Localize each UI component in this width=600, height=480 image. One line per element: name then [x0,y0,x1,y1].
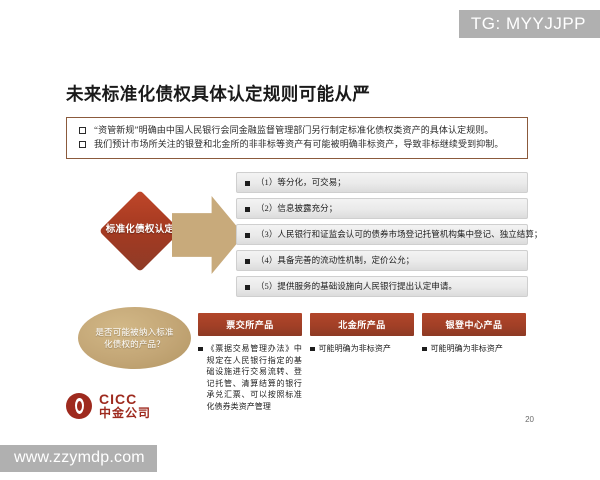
slide-canvas: TG: MYYJJPP 未来标准化债权具体认定规则可能从严 “资管新规”明确由中… [0,0,600,480]
square-bullet-icon [198,347,203,352]
cicc-logo-chinese: 中金公司 [99,407,151,420]
product-column-bill-exchange: 票交所产品 《票据交易管理办法》中规定在人民银行指定的基础设施进行交易流转、登记… [198,313,302,412]
square-bullet-icon [310,347,315,352]
column-body: 可能明确为非标资产 [310,343,414,355]
product-column-yindeng-center: 银登中心产品 可能明确为非标资产 [422,313,526,412]
column-body: 可能明确为非标资产 [422,343,526,355]
square-bullet-icon [245,207,250,212]
cicc-logo: CICC 中金公司 [66,392,151,419]
square-bullet-icon [245,233,250,238]
square-bullet-icon [245,259,250,264]
square-bullet-icon [79,141,86,148]
summary-bullet-text: 我们预计市场所关注的银登和北金所的非非标等资产有可能被明确非标资产，导致非标继续… [94,138,504,150]
criteria-list-item: （2）信息披露充分； [236,198,528,219]
column-body: 《票据交易管理办法》中规定在人民银行指定的基础设施进行交易流转、登记托管、清算结… [198,343,302,412]
cicc-logo-latin: CICC [99,392,151,407]
summary-bullet-text: “资管新规”明确由中国人民银行会同金融监督管理部门另行制定标准化债权类资产的具体… [94,124,494,136]
square-bullet-icon [245,181,250,186]
summary-bullet-box: “资管新规”明确由中国人民银行会同金融监督管理部门另行制定标准化债权类资产的具体… [66,117,528,159]
url-watermark: www.zzymdp.com [0,445,157,472]
column-header: 银登中心产品 [422,313,526,336]
criteria-list-item: （3）人民银行和证监会认可的债券市场登记托管机构集中登记、独立结算； [236,224,528,245]
column-body-text: 可能明确为非标资产 [431,343,503,355]
column-header: 北金所产品 [310,313,414,336]
page-number: 20 [525,415,534,424]
product-column-beijing-financial-assets-exchange: 北金所产品 可能明确为非标资产 [310,313,414,412]
square-bullet-icon [245,285,250,290]
square-bullet-icon [79,127,86,134]
criteria-list-item: （5）提供服务的基础设施向人民银行提出认定申请。 [236,276,528,297]
criteria-text: （1）等分化，可交易； [256,177,346,188]
column-body-text: 《票据交易管理办法》中规定在人民银行指定的基础设施进行交易流转、登记托管、清算结… [207,343,303,412]
criteria-list-item: （1）等分化，可交易； [236,172,528,193]
cicc-logo-text: CICC 中金公司 [99,392,151,419]
column-body-text: 可能明确为非标资产 [319,343,391,355]
criteria-text: （2）信息披露充分； [256,203,337,214]
square-bullet-icon [422,347,427,352]
criteria-list-item: （4）具备完善的流动性机制，定价公允； [236,250,528,271]
criteria-list: （1）等分化，可交易； （2）信息披露充分； （3）人民银行和证监会认可的债券市… [236,172,528,302]
telegram-watermark: TG: MYYJJPP [459,10,600,38]
question-oval-label: 是否可能被纳入标准化债权的产品？ [93,326,177,350]
question-oval: 是否可能被纳入标准化债权的产品？ [78,307,191,369]
criteria-text: （4）具备完善的流动性机制，定价公允； [256,255,414,266]
criteria-text: （5）提供服务的基础设施向人民银行提出认定申请。 [256,281,457,292]
cicc-droplet-logo-icon [66,393,92,419]
product-columns: 票交所产品 《票据交易管理办法》中规定在人民银行指定的基础设施进行交易流转、登记… [198,313,528,412]
summary-bullet-item: “资管新规”明确由中国人民银行会同金融监督管理部门另行制定标准化债权类资产的具体… [73,124,521,136]
column-header: 票交所产品 [198,313,302,336]
criteria-text: （3）人民银行和证监会认可的债券市场登记托管机构集中登记、独立结算； [256,229,542,240]
summary-bullet-item: 我们预计市场所关注的银登和北金所的非非标等资产有可能被明确非标资产，导致非标继续… [73,138,521,150]
page-title: 未来标准化债权具体认定规则可能从严 [66,81,370,106]
